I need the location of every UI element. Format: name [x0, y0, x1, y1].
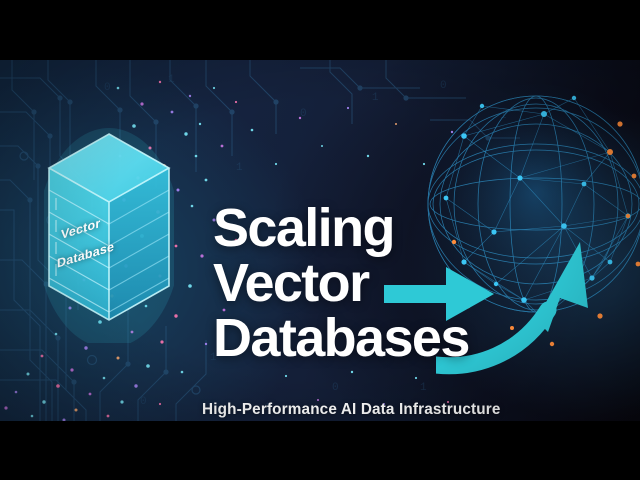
video-frame: 01 10 10 10 10 11: [0, 60, 640, 421]
subtitle-text: High-Performance AI Data Infrastructure: [202, 401, 501, 419]
letterbox-bar-top: [0, 0, 640, 60]
headline-line-2: Vector: [213, 256, 469, 311]
video-thumbnail: 01 10 10 10 10 11: [0, 0, 640, 480]
headline-block: Scaling Vector Databases: [213, 201, 469, 366]
letterbox-bar-bottom: [0, 421, 640, 480]
headline-line-3: Databases: [213, 311, 469, 366]
headline-line-1: Scaling: [213, 201, 469, 256]
isometric-server-rack-icon: [44, 128, 174, 343]
